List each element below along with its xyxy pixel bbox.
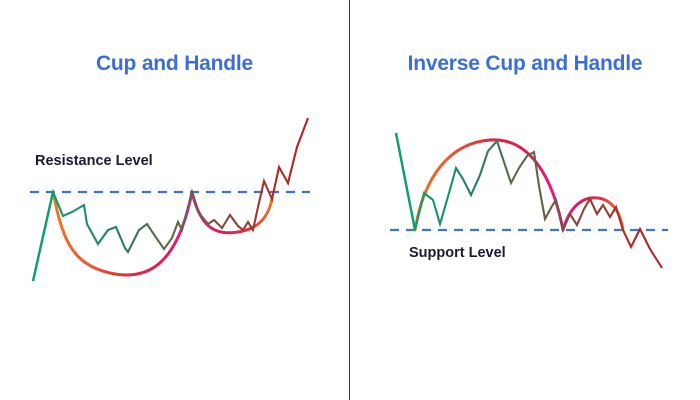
figure-root: Cup and Handle Resistance Level [0,0,700,400]
panel-cup-and-handle: Cup and Handle Resistance Level [0,0,349,400]
inverse-cup-and-handle-chart [350,0,700,400]
price-zigzag-line [33,118,308,281]
cup-and-handle-chart [0,0,349,400]
handle-arc [563,198,623,230]
breakout-leg [33,192,53,281]
panel-inverse-cup-and-handle: Inverse Cup and Handle Support Level [350,0,700,400]
cup-arc [53,192,192,275]
breakdown-leg [396,133,415,230]
